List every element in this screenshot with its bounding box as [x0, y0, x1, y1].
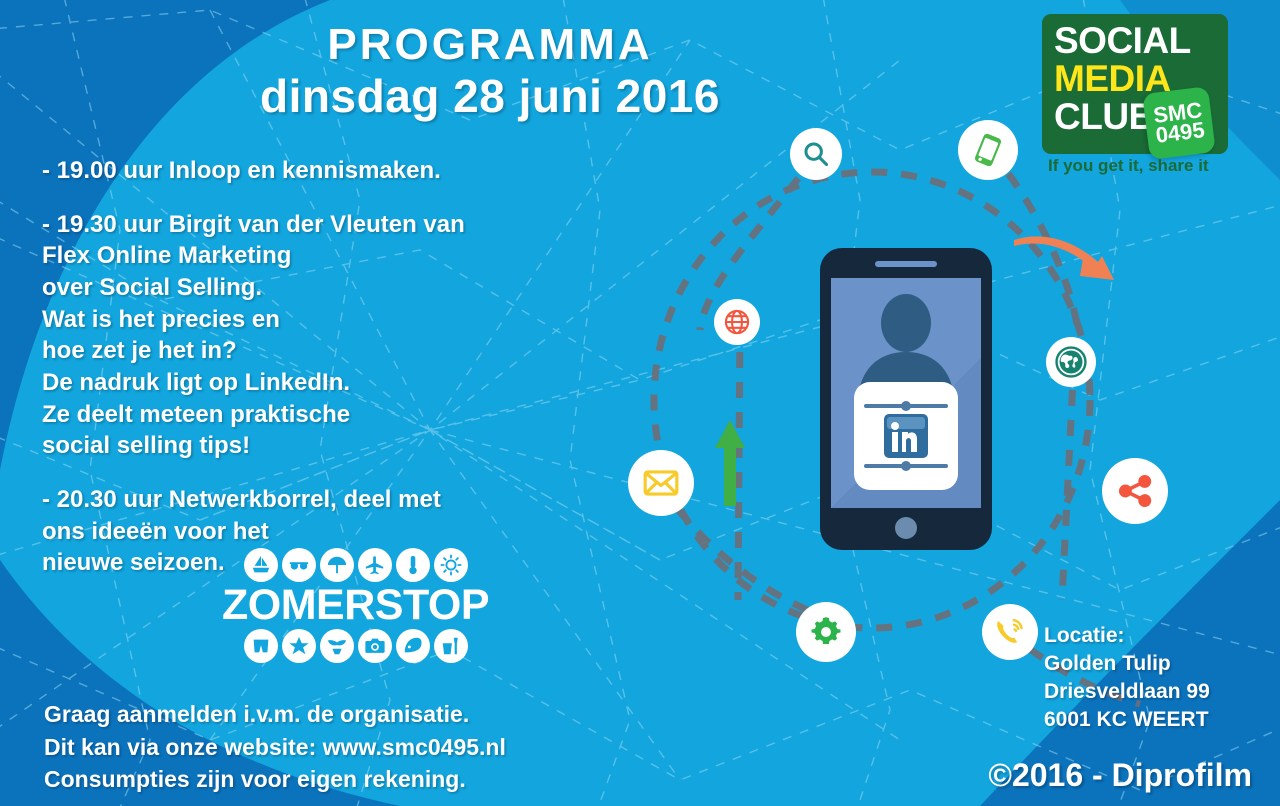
location-city: 6001 KC WEERT	[1044, 706, 1210, 734]
smartphone-svg	[820, 248, 992, 550]
linkedin-icon	[884, 414, 928, 458]
shell-icon	[396, 629, 430, 663]
sunglasses-icon	[282, 548, 316, 582]
signup-line-3: Consumpties zijn voor eigen rekening.	[44, 763, 506, 796]
title-line-programma: PROGRAMMA	[0, 22, 980, 68]
phone-call-glyph	[993, 615, 1027, 649]
mobile-device-icon[interactable]	[958, 120, 1018, 180]
bikini-icon	[320, 629, 354, 663]
share-icon[interactable]	[1102, 458, 1168, 524]
signup-info: Graag aanmelden i.v.m. de organisatie. D…	[44, 698, 506, 796]
earth-glyph	[1054, 345, 1088, 379]
signup-line-2[interactable]: Dit kan via onze website: www.smc0495.nl	[44, 731, 506, 764]
phone-home-button	[895, 517, 917, 539]
earth-icon[interactable]	[1046, 337, 1096, 387]
search-icon[interactable]	[790, 128, 842, 180]
globe-grid-icon[interactable]	[714, 299, 760, 345]
title-line-date: dinsdag 28 juni 2016	[0, 68, 980, 126]
zomerstop-icons-top	[222, 548, 489, 582]
thermometer-icon	[396, 548, 430, 582]
social-media-club-logo[interactable]: SOCIAL MEDIA CLUB SMC 0495 If you get it…	[1042, 14, 1238, 160]
program-item-2: - 19.30 uur Birgit van der Vleuten van F…	[42, 209, 662, 462]
smartphone-illustration	[820, 248, 992, 555]
zomerstop-icons-bottom	[222, 629, 489, 663]
mobile-device-glyph	[971, 133, 1005, 167]
camera-icon	[358, 629, 392, 663]
sailboat-icon	[244, 548, 278, 582]
green-arrow-icon	[712, 418, 748, 508]
poster-canvas: PROGRAMMA dinsdag 28 juni 2016 - 19.00 u…	[0, 0, 1280, 806]
swim-shorts-icon	[244, 629, 278, 663]
beach-umbrella-icon	[320, 548, 354, 582]
phone-call-icon[interactable]	[982, 604, 1038, 660]
program-list: - 19.00 uur Inloop en kennismaken. - 19.…	[42, 155, 662, 601]
airplane-icon	[358, 548, 392, 582]
page-title: PROGRAMMA dinsdag 28 juni 2016	[0, 22, 980, 126]
sun-icon	[434, 548, 468, 582]
signup-line-1: Graag aanmelden i.v.m. de organisatie.	[44, 698, 506, 731]
zomerstop-wordmark: ZOMERSTOP	[222, 584, 489, 627]
copyright-notice: ©2016 - Diprofilm	[988, 757, 1252, 794]
location-block: Locatie: Golden Tulip Driesveldlaan 99 6…	[1044, 622, 1210, 734]
logo-line-social: SOCIAL	[1054, 22, 1218, 60]
phone-speaker	[875, 261, 937, 267]
location-venue: Golden Tulip	[1044, 650, 1210, 678]
smc-0495-badge: SMC 0495	[1142, 86, 1216, 160]
logo-tagline: If you get it, share it	[1048, 156, 1209, 176]
gear-icon[interactable]	[796, 602, 856, 662]
zomerstop-logo: ZOMERSTOP	[222, 548, 489, 663]
orange-arrow-icon	[1010, 228, 1120, 298]
program-item-1: - 19.00 uur Inloop en kennismaken.	[42, 155, 662, 187]
location-street: Driesveldlaan 99	[1044, 678, 1210, 706]
bucket-spade-icon	[434, 629, 468, 663]
starfish-icon	[282, 629, 316, 663]
gear-glyph	[809, 615, 843, 649]
location-label: Locatie:	[1044, 622, 1210, 650]
